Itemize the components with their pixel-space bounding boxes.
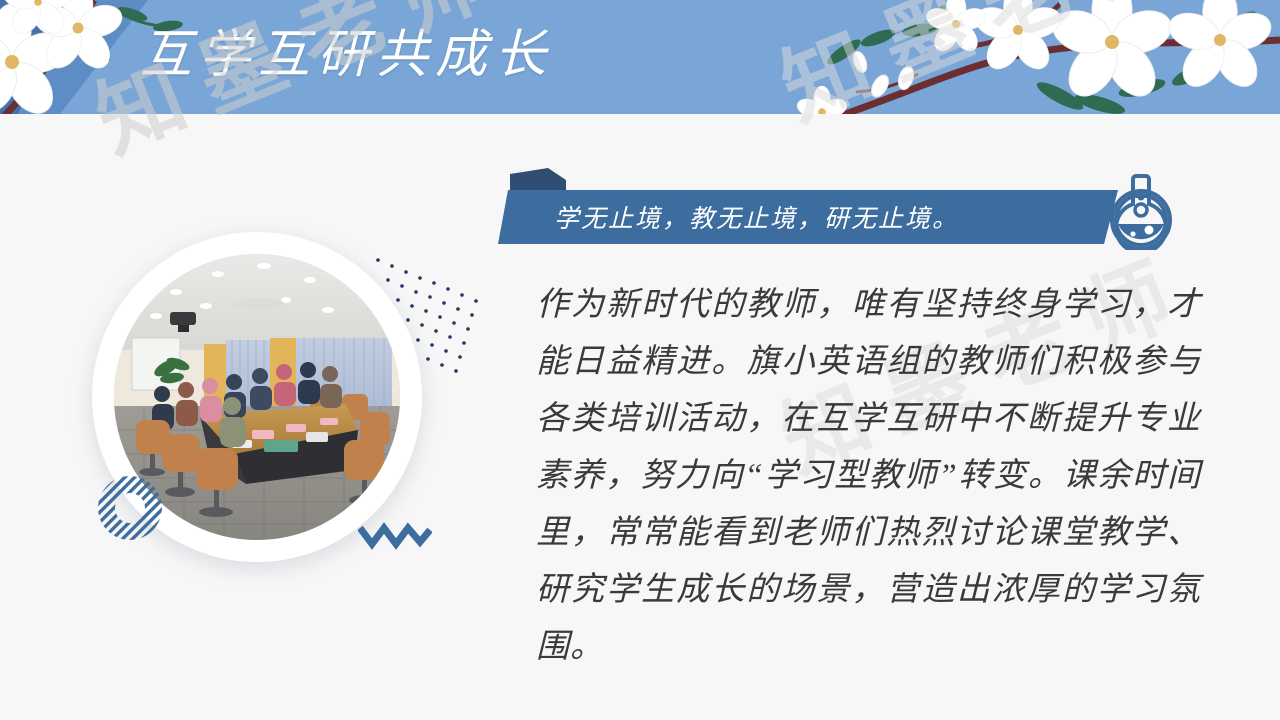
- body-paragraph: 作为新时代的教师，唯有坚持终身学习，才能日益精进。旗小英语组的教师们积极参与各类…: [536, 277, 1201, 676]
- blossom-branch-right-icon: [760, 0, 1280, 114]
- quote-ribbon: 学无止境，教无止境，研无止境。: [498, 168, 1188, 250]
- flask-icon: [1108, 172, 1174, 250]
- ribbon-quote-text: 学无止境，教无止境，研无止境。: [554, 190, 1114, 244]
- dotted-triangle-icon: [374, 252, 482, 377]
- page-title: 互学互研共成长: [140, 26, 553, 86]
- striped-ring-icon: [96, 474, 164, 542]
- zigzag-line-icon: [358, 520, 432, 550]
- header-band: 互学互研共成长: [0, 0, 1280, 114]
- photo-block: [82, 232, 462, 562]
